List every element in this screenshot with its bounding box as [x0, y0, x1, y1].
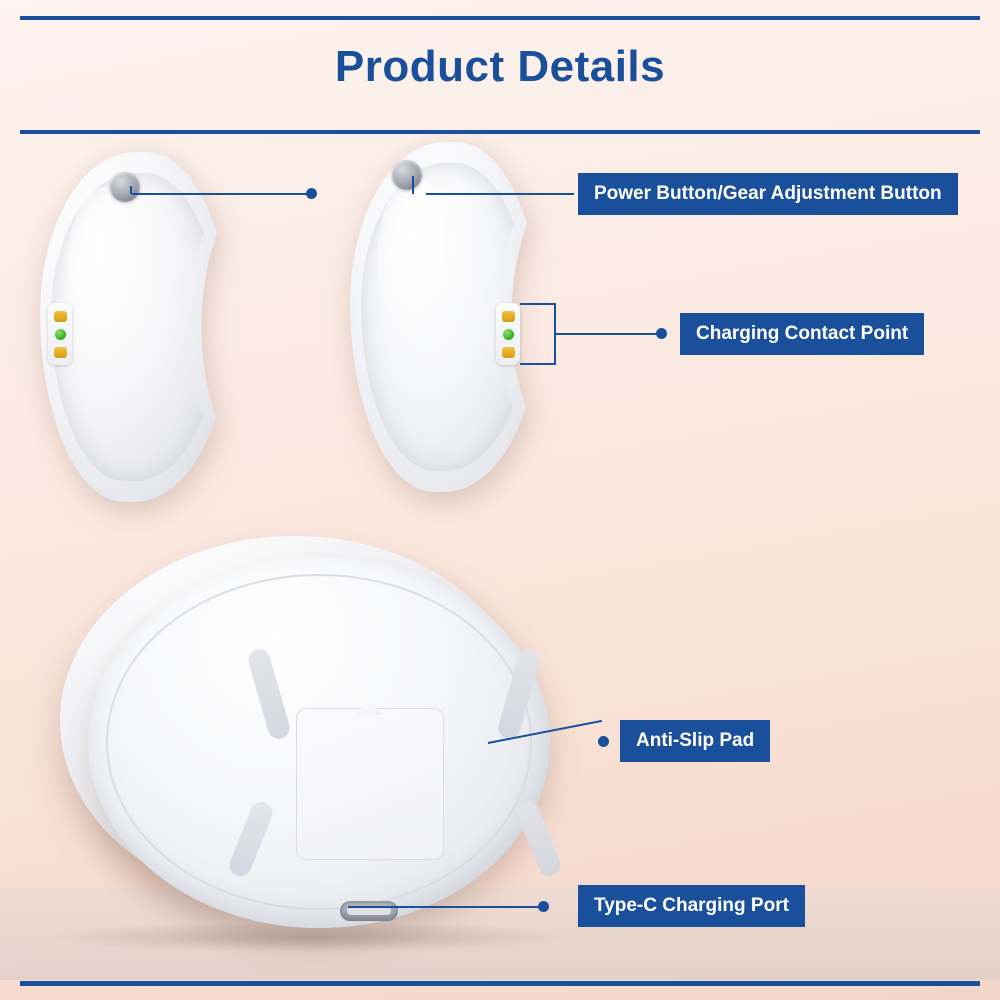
power-button-right-icon	[392, 160, 422, 190]
callout-line-power-vertical-right	[412, 176, 414, 194]
callout-dot-antislip	[598, 736, 609, 747]
round-charging-case	[40, 528, 570, 948]
callout-label-power-button[interactable]: Power Button/Gear Adjustment Button	[578, 173, 958, 215]
contact-pin-indicator	[503, 329, 514, 340]
product-photo-area	[0, 0, 1000, 1000]
callout-label-type-c-port[interactable]: Type-C Charging Port	[578, 885, 805, 927]
contact-pin-top	[54, 311, 67, 322]
callout-line-power-stub	[130, 186, 132, 194]
callout-label-anti-slip-pad[interactable]: Anti-Slip Pad	[620, 720, 770, 762]
usb-c-port-icon	[340, 901, 398, 921]
charging-contact-pad-left	[48, 303, 72, 365]
callout-bracket-charging	[520, 303, 556, 365]
contact-pin-bottom	[502, 347, 515, 358]
callout-line-power-horizontal	[132, 193, 312, 195]
callout-dot-typec	[538, 901, 549, 912]
callout-line-typec	[348, 906, 546, 908]
contact-pin-top	[502, 311, 515, 322]
anti-slip-pad-segment	[514, 799, 564, 880]
contact-pin-bottom	[54, 347, 67, 358]
charging-contact-pad-right	[496, 303, 520, 365]
bottom-divider-rule	[20, 981, 980, 986]
product-details-page: Product Details	[0, 0, 1000, 1000]
callout-dot-charging	[656, 328, 667, 339]
callout-label-charging-contact[interactable]: Charging Contact Point	[680, 313, 924, 355]
earpiece-left-shine	[67, 187, 147, 348]
earpiece-right-shine	[377, 177, 457, 338]
contact-pin-indicator	[55, 329, 66, 340]
callout-line-power-horizontal-right	[426, 193, 574, 195]
callout-line-charging	[556, 333, 662, 335]
case-center-plate	[296, 708, 444, 860]
case-upper-half	[88, 556, 550, 928]
power-button-left-icon	[110, 172, 140, 202]
